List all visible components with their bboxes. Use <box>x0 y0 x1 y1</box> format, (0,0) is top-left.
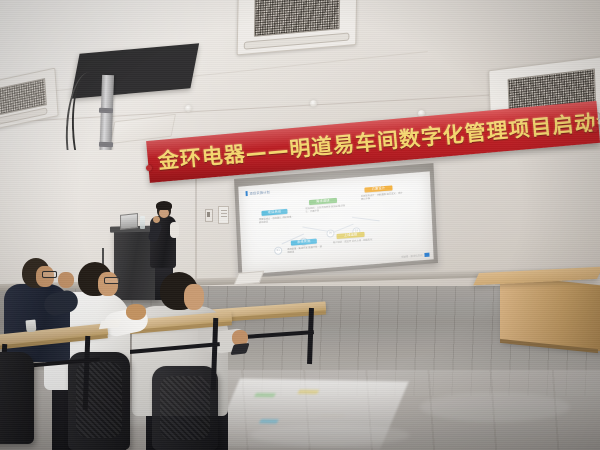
slide-title-text: 项目实施计划 <box>250 189 270 196</box>
banner-pin-right <box>592 126 598 132</box>
mesh-chair[interactable] <box>152 366 218 450</box>
reflection-node <box>298 390 320 394</box>
wall-notice-sign <box>218 206 229 224</box>
slide-node-1-label: 项目启动 <box>261 209 287 216</box>
ac-grille <box>254 0 340 37</box>
connector <box>352 217 380 221</box>
mesh-chair[interactable] <box>0 352 34 444</box>
notice-line <box>221 216 227 217</box>
presenter-sleeve <box>170 222 179 238</box>
mesh-chair[interactable] <box>68 352 130 450</box>
slide-floor-reflection <box>211 379 408 450</box>
eyeglasses-icon <box>104 277 120 284</box>
slide-node-1-body: 项目组成立 · 目标确认 调研准备 · 启动会议 <box>259 215 295 224</box>
connector <box>302 227 328 232</box>
attendee-middle-hands <box>126 304 146 320</box>
water-bottle-icon <box>140 216 145 229</box>
attendee-middle-face <box>98 272 118 296</box>
switch-rocker <box>207 212 210 217</box>
slide-title: 项目实施计划 <box>246 189 270 196</box>
slide-page-marker <box>424 253 429 257</box>
slide-step-5: 05 <box>326 229 334 238</box>
chair-mesh-back <box>160 376 210 440</box>
slide-node-5-body: 用户培训 · 试运行 正式上线 · 持续优化 <box>333 238 373 244</box>
laptop-icon[interactable] <box>120 213 138 230</box>
downlight-icon <box>310 100 317 107</box>
slide-node-2-label: 需求调研 <box>309 198 337 205</box>
reflection-node <box>320 414 345 417</box>
slide-node-4-label: 系统实施 <box>291 239 317 246</box>
downlight-icon <box>185 105 192 112</box>
eyeglasses-icon <box>42 271 57 278</box>
slide-node-2-body: 现场调研 · 业务流程梳理 数据采集点确认 · 方案评审 <box>305 204 345 213</box>
reflection-node <box>254 393 276 397</box>
slide-footer: 明道易 · 数字化车间 <box>401 253 429 259</box>
marble-vein <box>420 392 570 422</box>
attendee-left-hand <box>58 272 74 288</box>
slide-step-1: 01 <box>274 246 282 255</box>
paper-cup-icon <box>25 320 36 333</box>
slide-node-4-body: 系统配置 · 集成开发 数据迁移 · 联调测试 <box>287 245 323 254</box>
meeting-room-photo: 金环电器——明道易车间数字化管理项目启动会 项目实施计划 项目启动 项目组成立 … <box>0 0 600 450</box>
slide-node-5-label: 上线运维 <box>336 232 364 239</box>
attendee-right-face <box>184 284 204 310</box>
slide-title-accent <box>246 191 248 196</box>
notice-line <box>221 210 227 211</box>
reflection-node <box>259 419 279 423</box>
projection-screen: 项目实施计划 项目启动 项目组成立 · 目标确认 调研准备 · 启动会议 01 … <box>238 171 433 274</box>
presenter-hair <box>156 201 172 210</box>
presenter-hand <box>153 216 160 223</box>
light-switch-panel-icon[interactable] <box>205 209 213 222</box>
banner-pin-left <box>146 165 152 171</box>
slide-footer-text: 明道易 · 数字化车间 <box>401 253 423 259</box>
slide-node-3-body: 系统架构设计 · 功能蓝图 接口定义 · 设计确认评审 <box>361 191 405 201</box>
slide-node-3-label: 方案设计 <box>364 185 392 192</box>
notice-line <box>221 213 227 214</box>
door-edge <box>196 176 197 286</box>
